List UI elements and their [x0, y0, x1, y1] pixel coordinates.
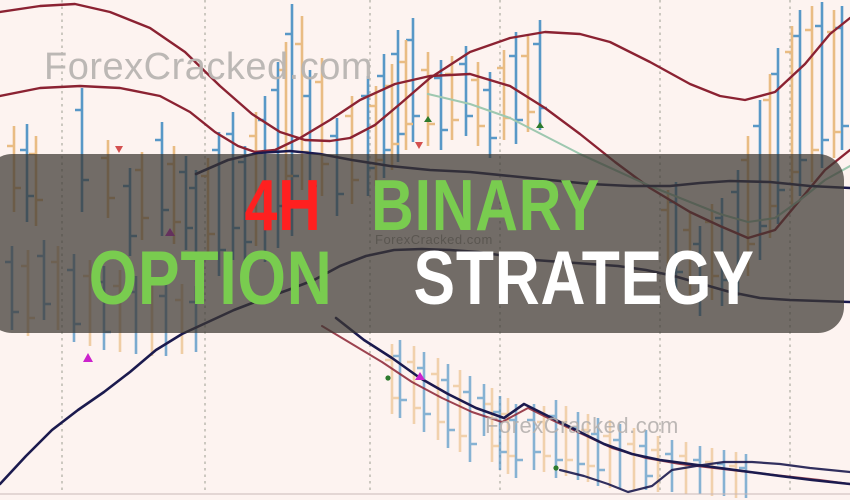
title-banner-overlay — [0, 154, 844, 333]
promo-image-canvas: ForexCracked.com ForexCracked.com ForexC… — [0, 0, 850, 500]
